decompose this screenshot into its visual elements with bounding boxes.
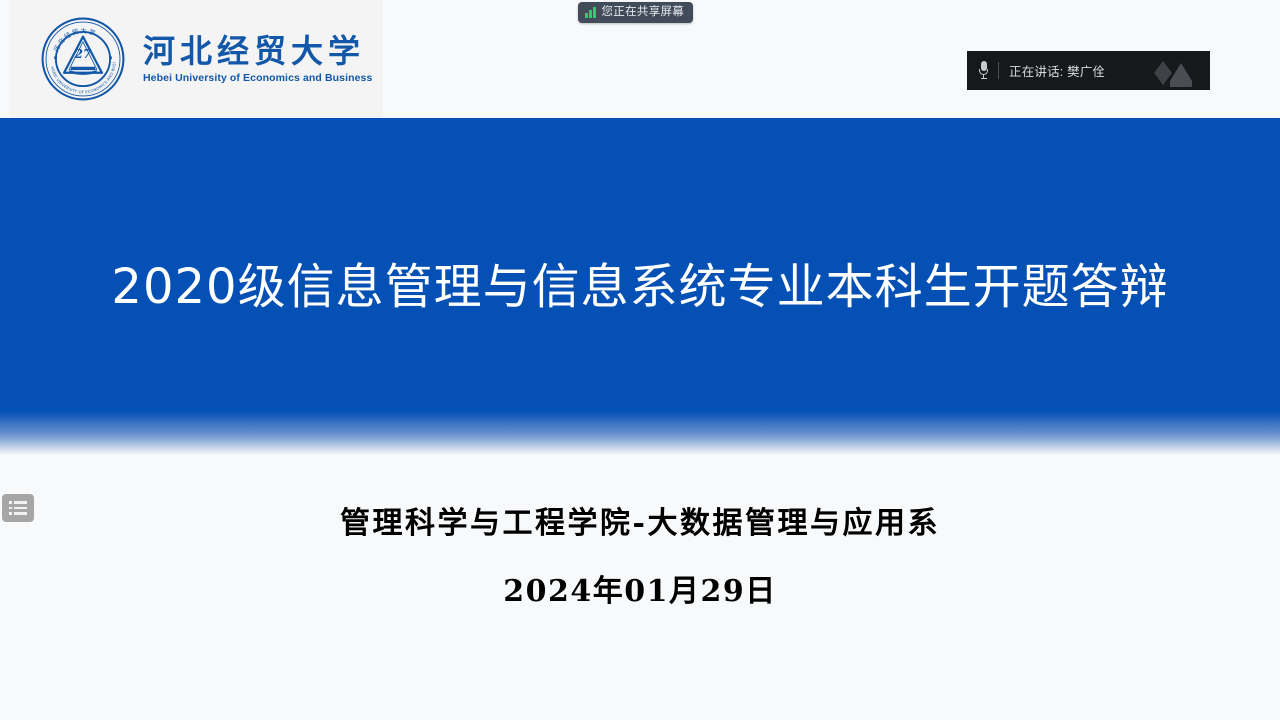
- university-logo-band: 27 河北经贸大学 HEBEI UNIVERSITY OF ECONOMICS …: [10, 0, 383, 118]
- active-speaker-panel[interactable]: 正在讲话: 樊广佺: [967, 51, 1210, 90]
- shared-screen-presentation: 您正在共享屏幕 正在讲话: 樊广佺 27: [0, 0, 1280, 720]
- logo-chinese-name: 河北经贸大学: [143, 34, 372, 70]
- slide-title: 2020级信息管理与信息系统专业本科生开题答辩: [0, 260, 1280, 315]
- svg-text:27: 27: [74, 47, 92, 61]
- screen-sharing-label: 您正在共享屏幕: [602, 2, 685, 23]
- signal-bars-icon: [585, 7, 596, 18]
- active-speaker-label: 正在讲话: 樊广佺: [1009, 61, 1105, 80]
- outline-list-icon[interactable]: [2, 494, 34, 522]
- speaker-divider: [998, 62, 999, 79]
- university-seal-icon: 27 河北经贸大学 HEBEI UNIVERSITY OF ECONOMICS …: [40, 16, 126, 102]
- screen-sharing-toast[interactable]: 您正在共享屏幕: [578, 2, 693, 23]
- logo-english-name: Hebei University of Economics and Busine…: [143, 72, 372, 84]
- slide-department: 管理科学与工程学院-大数据管理与应用系: [0, 505, 1280, 543]
- speaker-video-watermark: [1140, 51, 1202, 90]
- slide-title-banner: 2020级信息管理与信息系统专业本科生开题答辩: [0, 118, 1280, 455]
- slide-date: 2024年01月29日: [0, 573, 1280, 611]
- microphone-icon: [979, 61, 988, 80]
- slide-subtitle-block: 管理科学与工程学院-大数据管理与应用系 2024年01月29日: [0, 505, 1280, 610]
- logo-wordmark: 河北经贸大学 Hebei University of Economics and…: [143, 34, 372, 85]
